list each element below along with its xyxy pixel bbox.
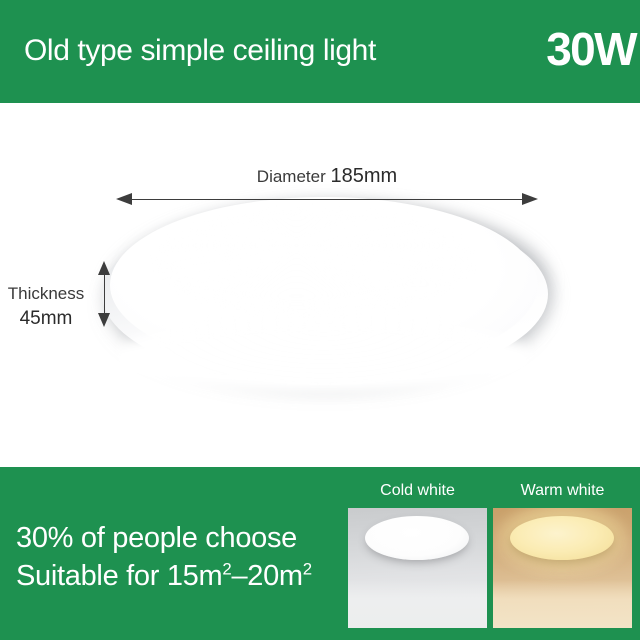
cold-white-wall <box>348 580 487 628</box>
page-title: Old type simple ceiling light <box>24 31 376 71</box>
diameter-label-text: Diameter <box>257 167 326 186</box>
footer-line-2: Suitable for 15m2–20m2 <box>16 557 312 595</box>
swatch-cold-white-photo <box>348 508 487 628</box>
swatch-warm-white[interactable]: Warm white <box>493 480 632 628</box>
lamp-bottom-fade <box>116 317 532 395</box>
thickness-arrow <box>98 261 112 327</box>
warm-white-lamp-icon <box>510 516 614 560</box>
swatch-cold-white[interactable]: Cold white <box>348 480 487 628</box>
warm-white-room-scene <box>493 508 632 628</box>
footer-line-2-prefix: Suitable for 15m <box>16 560 222 592</box>
swatch-cold-white-label: Cold white <box>348 480 487 502</box>
diameter-arrow <box>116 193 538 207</box>
footer-copy: 30% of people choose Suitable for 15m2–2… <box>16 519 312 595</box>
arrow-down-icon <box>98 313 110 327</box>
swatch-warm-white-label: Warm white <box>493 480 632 502</box>
product-image-area: Diameter 185mm Thickness 45mm <box>0 103 640 467</box>
swatch-warm-white-photo <box>493 508 632 628</box>
footer-line-2-sup2: 2 <box>303 559 312 578</box>
wattage-badge: 30W <box>546 21 636 77</box>
color-temperature-swatches: Cold white Warm white <box>348 480 632 628</box>
diameter-value-text: 185mm <box>331 165 398 187</box>
arrow-right-icon <box>522 193 538 205</box>
diameter-arrow-line <box>126 199 528 200</box>
footer-line-1: 30% of people choose <box>16 519 312 557</box>
product-infographic: Old type simple ceiling light 30W Diamet… <box>0 0 640 640</box>
warm-white-wall <box>493 580 632 628</box>
cold-white-room-scene <box>348 508 487 628</box>
thickness-label: Thickness 45mm <box>0 281 92 331</box>
thickness-label-text: Thickness <box>8 284 85 303</box>
thickness-arrow-line <box>104 270 105 318</box>
diameter-label: Diameter 185mm <box>116 165 538 188</box>
lamp-highlight <box>148 207 478 317</box>
ceiling-light-product-image <box>96 197 560 399</box>
cold-white-lamp-icon <box>365 516 469 560</box>
thickness-value-text: 45mm <box>0 306 92 331</box>
footer-line-2-mid: –20m <box>231 560 302 592</box>
footer-banner: 30% of people choose Suitable for 15m2–2… <box>0 467 640 640</box>
header-banner: Old type simple ceiling light 30W <box>0 0 640 103</box>
